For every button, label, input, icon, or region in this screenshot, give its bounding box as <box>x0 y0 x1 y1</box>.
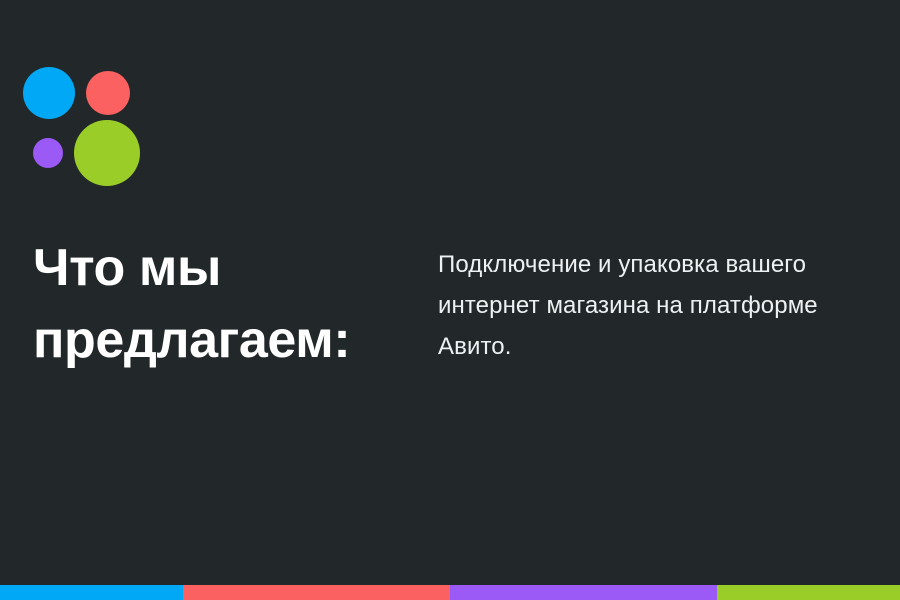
slide-canvas: Что мы предлагаем: Подключение и упаковк… <box>0 0 900 600</box>
accent-band-red <box>183 585 450 600</box>
accent-band-green <box>717 585 900 600</box>
slide-content: Что мы предлагаем: Подключение и упаковк… <box>0 232 900 392</box>
purple-dot-icon <box>33 138 63 168</box>
accent-band-blue <box>0 585 183 600</box>
green-dot-icon <box>74 120 140 186</box>
bottom-accent-bar <box>0 585 900 600</box>
red-dot-icon <box>86 71 130 115</box>
logo-dot-cluster <box>0 0 180 220</box>
slide-headline: Что мы предлагаем: <box>33 232 433 376</box>
accent-band-purple <box>450 585 717 600</box>
slide-subcopy: Подключение и упаковка вашего интернет м… <box>438 244 868 367</box>
blue-dot-icon <box>23 67 75 119</box>
